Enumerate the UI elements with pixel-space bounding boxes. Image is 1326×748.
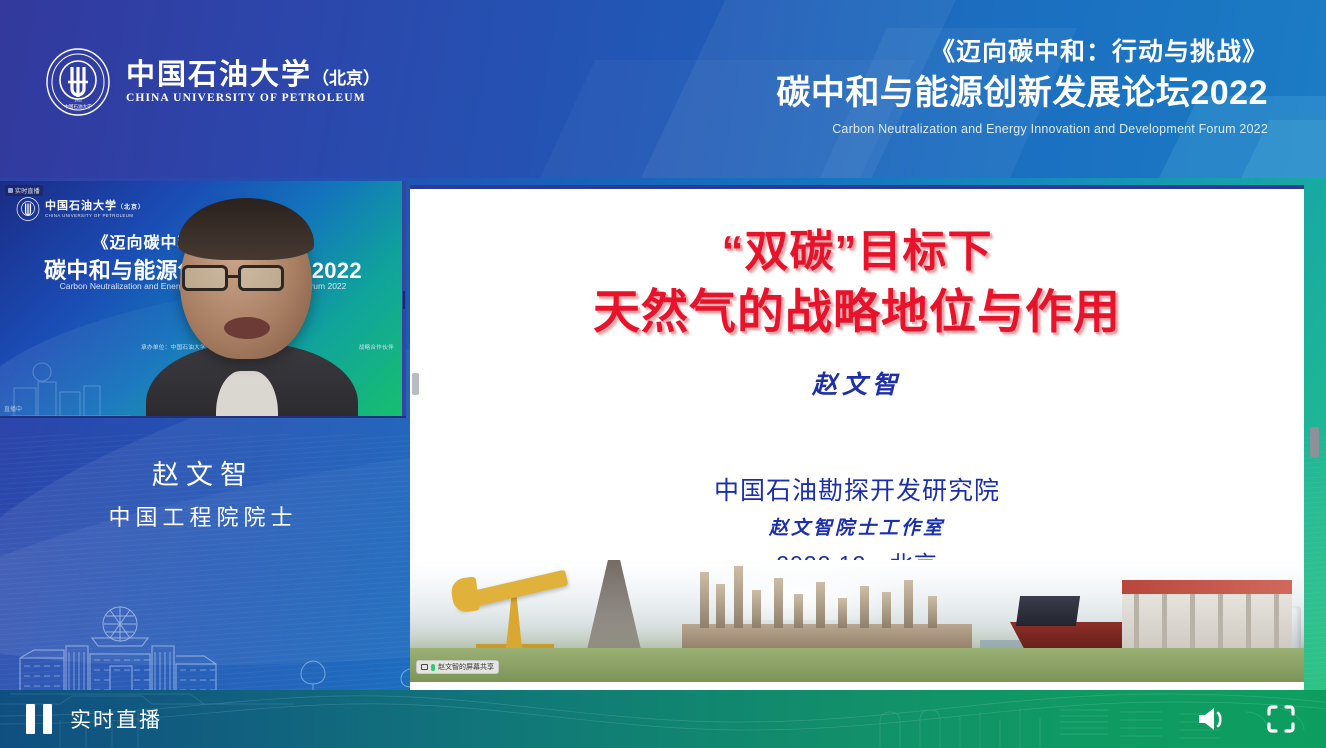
speaker-mouth bbox=[224, 317, 270, 339]
live-status-label: 实时直播 bbox=[70, 704, 162, 734]
svg-text:中国石油大学: 中国石油大学 bbox=[64, 103, 92, 110]
speaker-hair bbox=[178, 198, 314, 260]
video-badge-label: 实时直播 bbox=[15, 186, 40, 195]
speaker-figure bbox=[152, 203, 352, 418]
logo-name-cn: 中国石油大学（北京） bbox=[126, 60, 380, 90]
pumpjack-illustration bbox=[452, 576, 572, 654]
slide-title: “双碳”目标下 天然气的战略地位与作用 bbox=[410, 223, 1304, 343]
video-scroll-handle[interactable] bbox=[403, 291, 405, 309]
screen-share-indicator: 赵文智的屏幕共享 bbox=[416, 660, 499, 674]
svg-text:1953: 1953 bbox=[74, 99, 81, 103]
fullscreen-button[interactable] bbox=[1266, 704, 1296, 734]
slide-industry-photo-strip bbox=[410, 560, 1304, 682]
header-title-block: 《迈向碳中和：行动与挑战》 碳中和与能源创新发展论坛2022 Carbon Ne… bbox=[776, 38, 1268, 136]
speaker-glasses-left bbox=[182, 265, 228, 291]
control-bar-decoration bbox=[0, 690, 1326, 748]
speaker-name: 赵文智 bbox=[0, 455, 406, 496]
slide-title-line1: “双碳”目标下 bbox=[722, 227, 993, 276]
pause-button[interactable] bbox=[26, 704, 52, 734]
slide-organization: 中国石油勘探开发研究院 bbox=[410, 473, 1304, 509]
pause-icon-bar-left bbox=[26, 704, 35, 734]
video-logo-name-en: CHINA UNIVERSITY OF PETROLEUM bbox=[45, 213, 145, 218]
speaker-video-tile[interactable]: 中国石油大学（北京） CHINA UNIVERSITY OF PETROLEUM… bbox=[0, 181, 406, 418]
player-control-bar: 实时直播 bbox=[0, 690, 1326, 748]
speaker-glasses-bridge bbox=[228, 275, 240, 278]
slide-studio: 赵文智院士工作室 bbox=[410, 513, 1304, 540]
video-logo-name-cn: 中国石油大学（北京） bbox=[45, 200, 145, 212]
microphone-icon bbox=[431, 664, 435, 671]
video-city-illustration bbox=[10, 356, 130, 416]
video-slide-logo: 中国石油大学（北京） CHINA UNIVERSITY OF PETROLEUM bbox=[16, 197, 145, 221]
speaker-title: 中国工程院院士 bbox=[0, 500, 406, 535]
header-quote-title: 《迈向碳中和：行动与挑战》 bbox=[776, 38, 1268, 68]
fullscreen-icon bbox=[1266, 704, 1296, 734]
plant-building-illustration bbox=[1122, 580, 1292, 654]
shared-slide[interactable]: “双碳”目标下 天然气的战略地位与作用 赵文智 中国石油勘探开发研究院 赵文智院… bbox=[410, 185, 1304, 690]
video-university-seal-icon bbox=[16, 197, 40, 221]
speaker-caption: 赵文智 中国工程院院士 bbox=[0, 455, 406, 535]
screen-share-icon bbox=[421, 664, 428, 670]
slide-signature: 赵文智 bbox=[410, 365, 1304, 401]
logo-name-en: CHINA UNIVERSITY OF PETROLEUM bbox=[126, 92, 380, 104]
volume-on-icon bbox=[1196, 704, 1230, 734]
video-badge-icon bbox=[8, 188, 13, 193]
slide-title-line2: 天然气的战略地位与作用 bbox=[410, 281, 1304, 343]
strip-grass bbox=[410, 648, 1304, 682]
event-header: 中国石油大学 1953 中国石油大学（北京） CHINA UNIVERSITY … bbox=[0, 0, 1326, 178]
pause-icon-bar-right bbox=[43, 704, 52, 734]
header-en-subtitle: Carbon Neutralization and Energy Innovat… bbox=[776, 122, 1268, 136]
video-corner-label: 直播中 bbox=[4, 404, 22, 413]
video-logo-suffix: （北京） bbox=[117, 205, 145, 211]
speaker-glasses-right bbox=[238, 265, 284, 291]
refinery-illustration bbox=[682, 562, 972, 654]
university-logo: 中国石油大学 1953 中国石油大学（北京） CHINA UNIVERSITY … bbox=[44, 48, 380, 116]
screen-share-label: 赵文智的屏幕共享 bbox=[438, 662, 494, 672]
live-stream-player: 中国石油大学 1953 中国石油大学（北京） CHINA UNIVERSITY … bbox=[0, 0, 1326, 748]
video-live-badge: 实时直播 bbox=[5, 185, 43, 196]
slide-scroll-handle-right[interactable] bbox=[1310, 427, 1319, 457]
slide-scroll-handle-left[interactable] bbox=[412, 373, 419, 395]
header-main-title: 碳中和与能源创新发展论坛2022 bbox=[776, 72, 1268, 115]
video-slide-footer-right: 战略合作伙伴 bbox=[359, 343, 394, 351]
university-seal-icon: 中国石油大学 1953 bbox=[44, 48, 112, 116]
logo-name-suffix: （北京） bbox=[312, 69, 380, 88]
volume-button[interactable] bbox=[1196, 704, 1230, 734]
